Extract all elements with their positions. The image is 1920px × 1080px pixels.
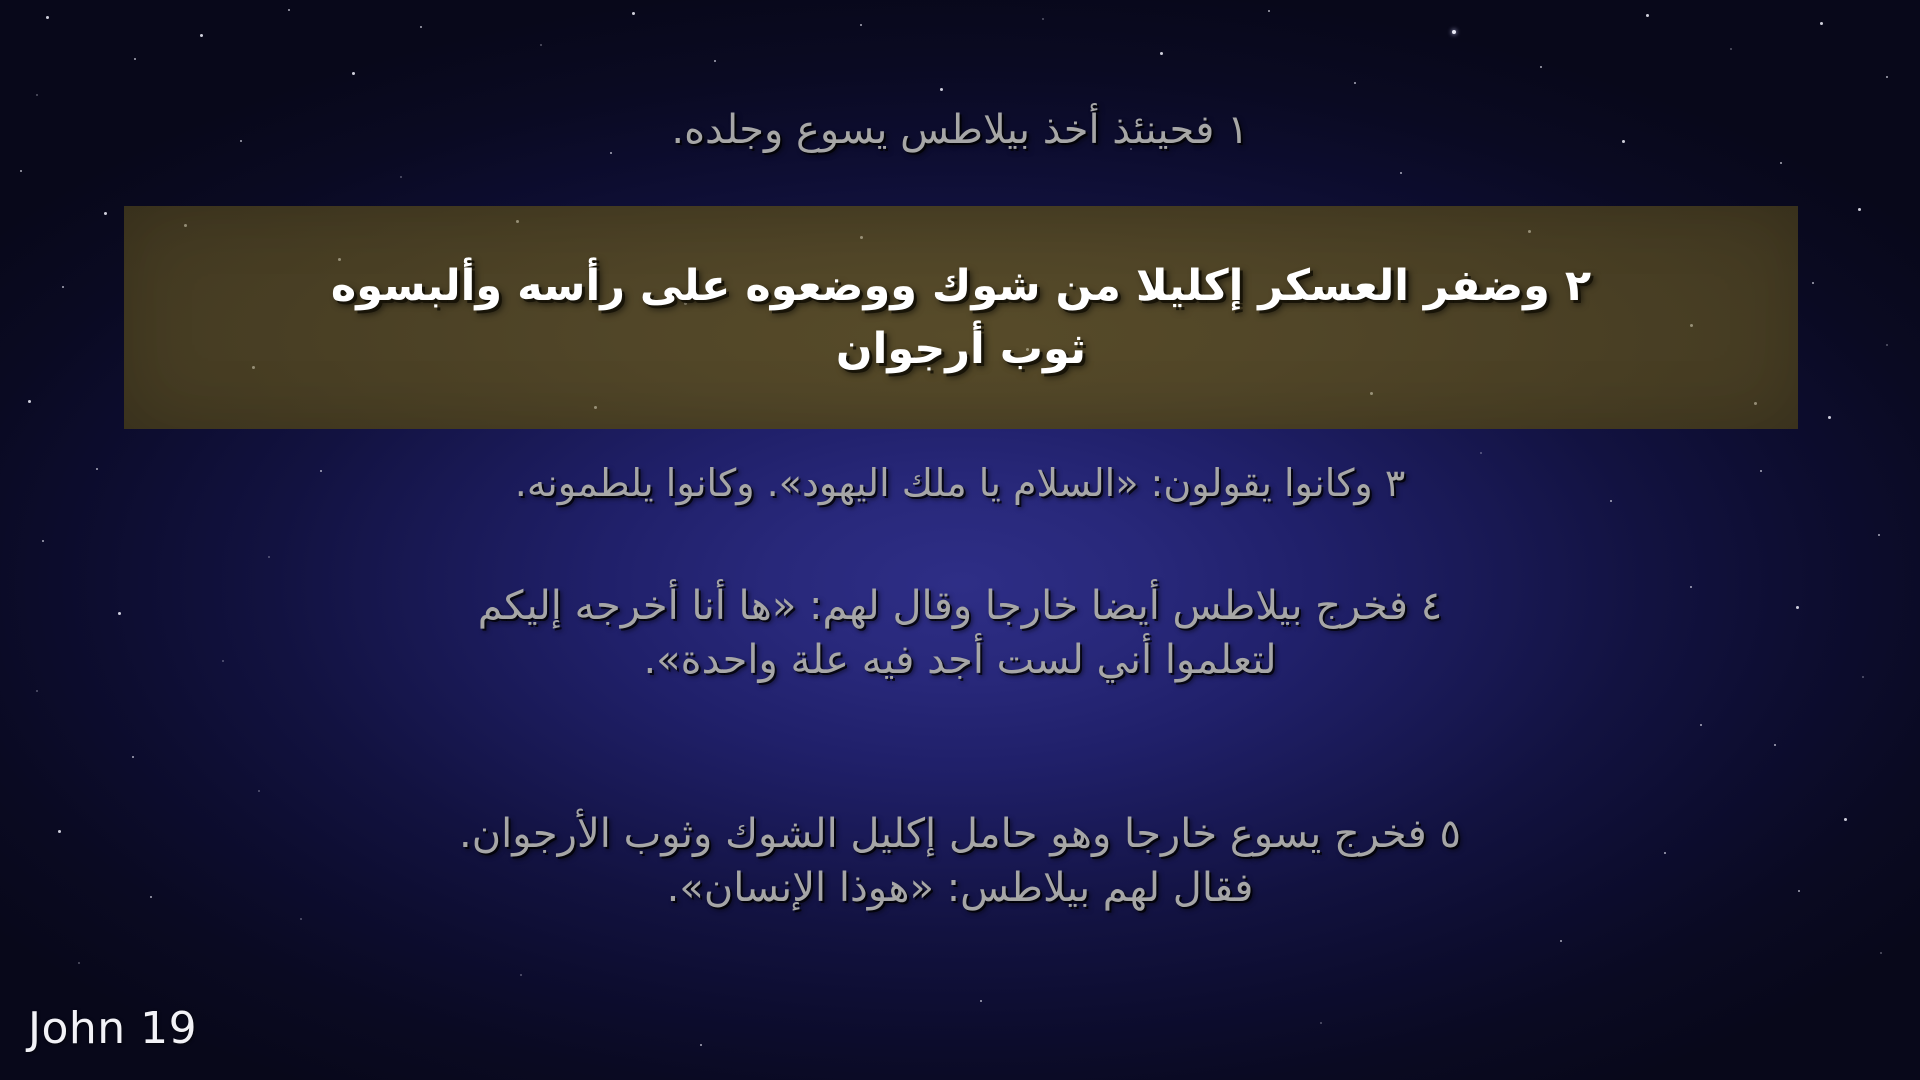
verse-line-2-highlighted: ٢ وضفر العسكر إكليلا من شوك ووضعوه على ر…: [124, 206, 1798, 429]
scripture-reference: John 19: [28, 1003, 197, 1054]
presentation-slide: ١ فحينئذ أخذ بيلاطس يسوع وجلده. ٣ وكانوا…: [0, 0, 1920, 1080]
scripture-body: ١ فحينئذ أخذ بيلاطس يسوع وجلده. ٣ وكانوا…: [0, 0, 1920, 1080]
verse-line-5: ٥ فخرج يسوع خارجا وهو حامل إكليل الشوك و…: [160, 808, 1760, 915]
verse-line-3: ٣ وكانوا يقولون: «السلام يا ملك اليهود».…: [160, 458, 1760, 509]
highlighted-verse-box: ٢ وضفر العسكر إكليلا من شوك ووضعوه على ر…: [124, 206, 1798, 429]
verse-line-4: ٤ فخرج بيلاطس أيضا خارجا وقال لهم: «ها أ…: [160, 580, 1760, 687]
verse-line-1: ١ فحينئذ أخذ بيلاطس يسوع وجلده.: [160, 104, 1760, 158]
